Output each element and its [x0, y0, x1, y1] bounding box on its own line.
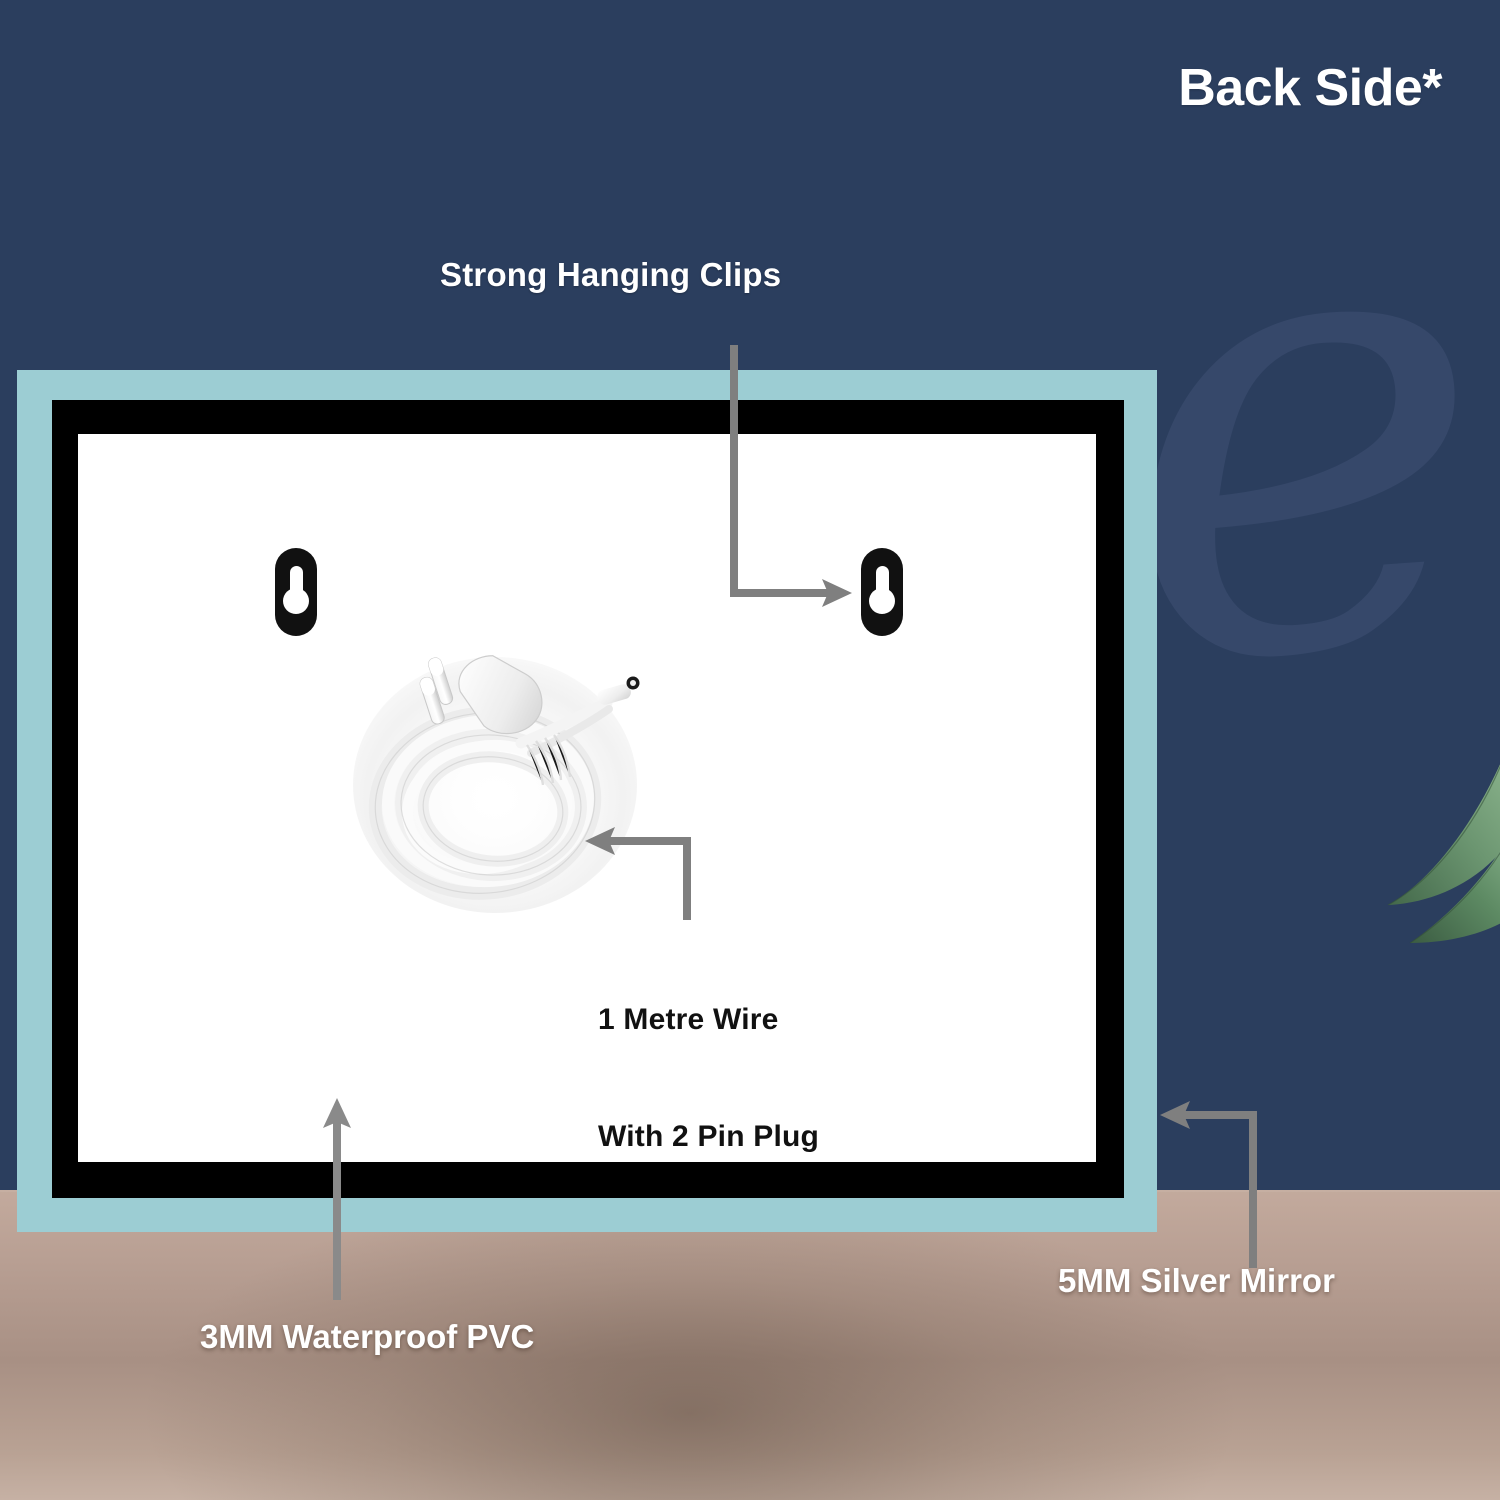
label-waterproof-pvc: 3MM Waterproof PVC — [200, 1318, 534, 1356]
label-silver-mirror: 5MM Silver Mirror — [1058, 1262, 1335, 1300]
keyhole-circle-icon — [283, 588, 309, 614]
leaf-decoration-icon — [1380, 735, 1500, 945]
label-wire: 1 Metre Wire With 2 Pin Plug — [598, 922, 819, 1234]
keyhole-hanging-clip-left — [275, 548, 317, 636]
keyhole-circle-icon — [869, 588, 895, 614]
brand-watermark-icon: e — [1099, 136, 1500, 784]
label-wire-line1: 1 Metre Wire — [598, 1000, 819, 1039]
coiled-power-cord-icon — [345, 625, 645, 915]
keyhole-hanging-clip-right — [861, 548, 903, 636]
label-wire-line2: With 2 Pin Plug — [598, 1117, 819, 1156]
infographic-canvas: e — [0, 0, 1500, 1500]
label-strong-hanging-clips: Strong Hanging Clips — [440, 256, 781, 294]
page-title: Back Side* — [1178, 58, 1442, 118]
